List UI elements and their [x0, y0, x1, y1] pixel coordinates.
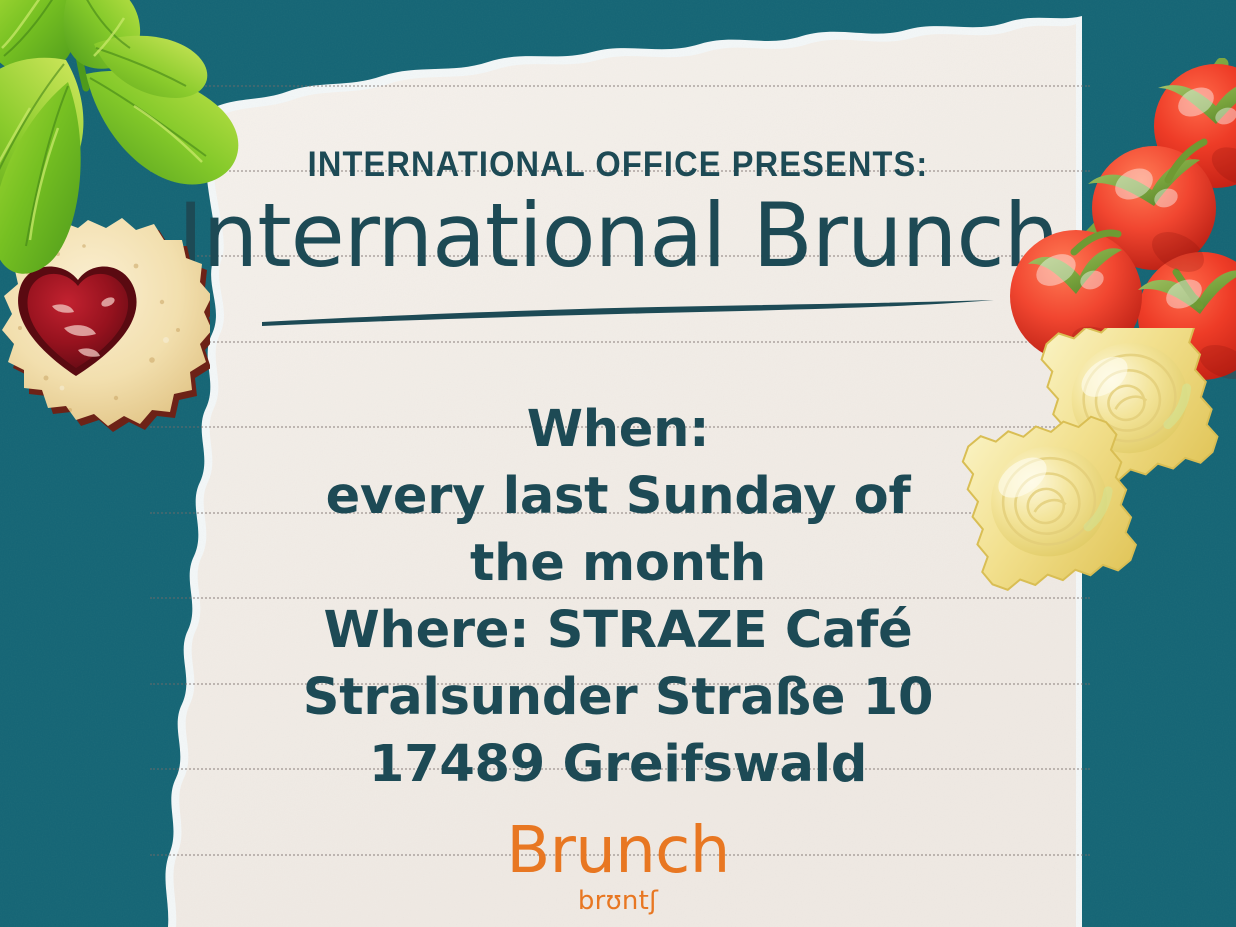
detail-line: every last Sunday of — [0, 463, 1236, 530]
detail-line: Where: STRAZE Café — [0, 597, 1236, 664]
detail-line: Stralsunder Straße 10 — [0, 664, 1236, 731]
logo-wordmark: Brunch — [0, 818, 1236, 884]
brunch-logo: Brunch brʊntʃ — [0, 818, 1236, 916]
poster-content: INTERNATIONAL OFFICE PRESENTS: Internati… — [0, 0, 1236, 927]
detail-line: When: — [0, 396, 1236, 463]
kicker-text: INTERNATIONAL OFFICE PRESENTS: — [43, 145, 1192, 185]
detail-line: the month — [0, 530, 1236, 597]
event-details: When: every last Sunday of the month Whe… — [0, 396, 1236, 798]
underline-swoosh — [258, 296, 998, 330]
page-title: International Brunch — [0, 192, 1236, 280]
poster-canvas: INTERNATIONAL OFFICE PRESENTS: Internati… — [0, 0, 1236, 927]
logo-phonetic: brʊntʃ — [0, 886, 1236, 916]
detail-line: 17489 Greifswald — [0, 731, 1236, 798]
